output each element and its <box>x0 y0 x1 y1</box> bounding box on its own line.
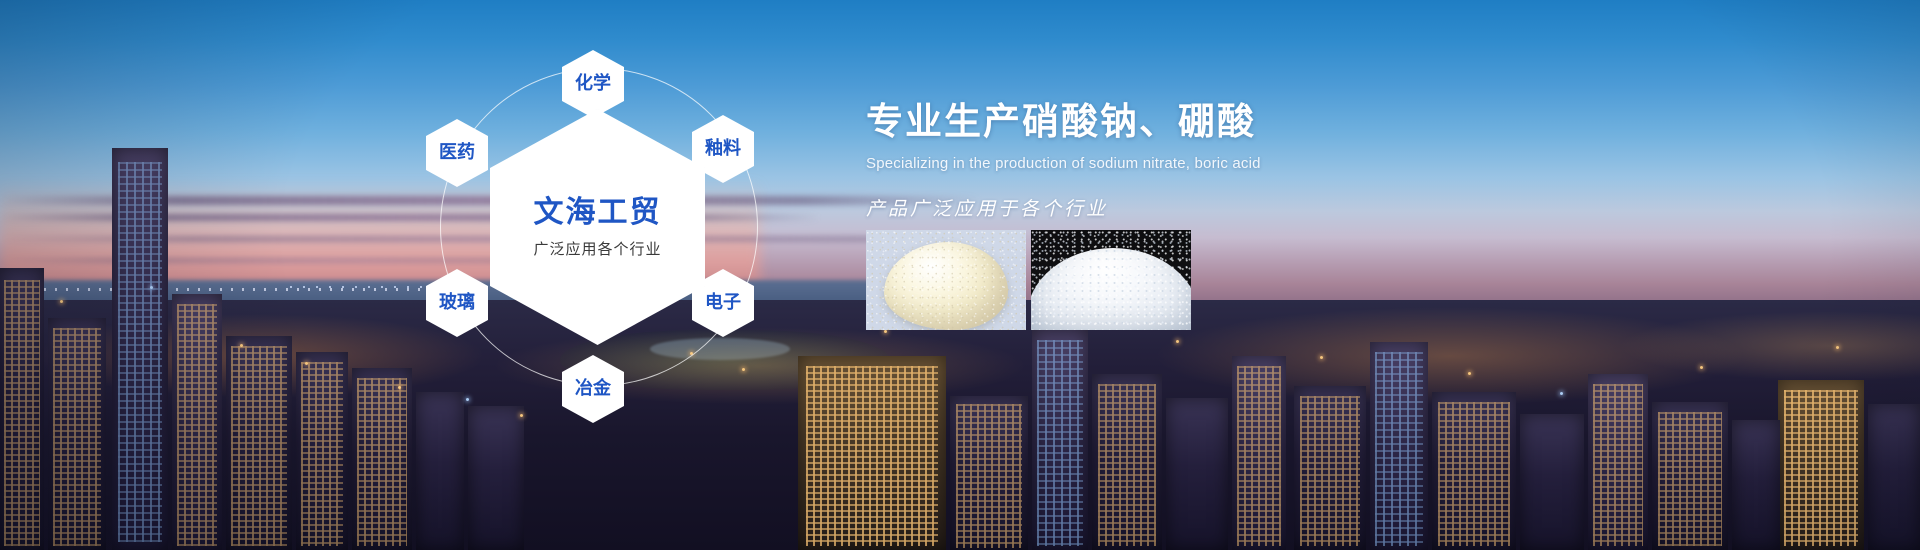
building-windows <box>118 162 162 542</box>
building-windows <box>301 362 343 546</box>
building-windows <box>1375 352 1423 546</box>
powder-grain-texture <box>1031 230 1191 330</box>
city-light <box>1560 392 1563 395</box>
product-photo-sodium-nitrate[interactable] <box>866 230 1026 330</box>
city-light <box>398 386 401 389</box>
building-windows <box>1658 412 1722 546</box>
hex-node-label: 化学 <box>575 75 611 93</box>
building-windows <box>1438 402 1510 546</box>
city-light <box>60 300 63 303</box>
product-photo-strip <box>866 230 1191 330</box>
city-light <box>884 330 887 333</box>
bridge-lights <box>0 288 430 291</box>
city-light <box>1468 372 1471 375</box>
industry-hex-diagram: 化学 釉料 电子 冶金 玻璃 医药 文海工贸 广泛应用各个行业 <box>418 30 778 430</box>
building-windows <box>4 280 40 546</box>
building-windows <box>357 378 407 546</box>
building-windows <box>1300 396 1360 546</box>
city-light <box>1700 366 1703 369</box>
city-light <box>240 344 243 347</box>
city-light <box>1320 356 1323 359</box>
hex-node-label: 电子 <box>705 294 741 312</box>
hex-node-label: 冶金 <box>575 380 611 398</box>
company-tagline: 广泛应用各个行业 <box>533 238 661 259</box>
building-windows <box>53 328 101 546</box>
building <box>1166 398 1228 550</box>
product-photo-boric-acid[interactable] <box>1031 230 1191 330</box>
headline-subtitle-cn: 产品广泛应用于各个行业 <box>866 194 1506 221</box>
headline-subtitle-en: Specializing in the production of sodium… <box>866 155 1506 172</box>
headline-block: 专业生产硝酸钠、硼酸 Specializing in the productio… <box>866 100 1506 221</box>
city-light <box>150 286 153 289</box>
building-windows <box>1098 384 1156 546</box>
building <box>1520 414 1584 550</box>
building <box>1732 420 1780 550</box>
building-windows <box>177 304 217 546</box>
hex-node-label: 医药 <box>439 144 475 162</box>
building-windows <box>1593 384 1643 546</box>
promo-banner: 化学 釉料 电子 冶金 玻璃 医药 文海工贸 广泛应用各个行业 专业生产硝酸钠、… <box>0 0 1920 550</box>
city-light <box>1836 346 1839 349</box>
building-windows <box>231 346 287 546</box>
building <box>1868 404 1920 550</box>
building-windows <box>1784 390 1858 546</box>
headline-title: 专业生产硝酸钠、硼酸 <box>866 100 1506 144</box>
city-light <box>305 362 308 365</box>
building-windows <box>806 366 938 546</box>
building-windows <box>1237 366 1281 546</box>
building-windows <box>1037 340 1083 546</box>
hex-node-label: 釉料 <box>705 140 741 158</box>
city-light <box>1176 340 1179 343</box>
hex-node-label: 玻璃 <box>439 294 475 312</box>
company-name: 文海工贸 <box>534 196 662 229</box>
powder-grain-texture <box>866 230 1026 330</box>
building-windows <box>956 404 1022 548</box>
